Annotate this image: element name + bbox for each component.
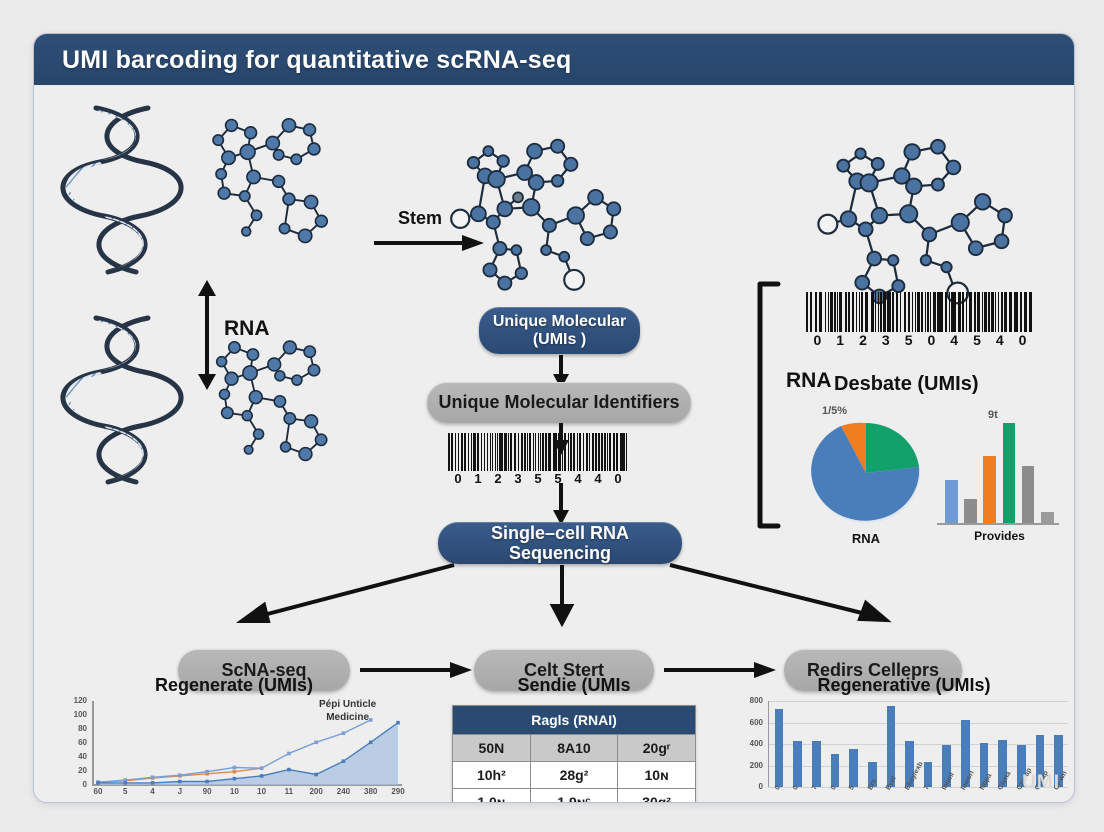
- minibar: [945, 480, 958, 523]
- minibar-label: Provides: [932, 529, 1067, 543]
- bar: [849, 749, 858, 787]
- sendie-table: Ragls (RNAI) 50N8A1020gʳ10h²28ɡ²10ɴ1 0ɴ1…: [452, 705, 696, 803]
- table-cell: 10ɴ: [618, 762, 696, 789]
- line-ytick: 40: [78, 752, 87, 761]
- table-row: 10h²28ɡ²10ɴ: [453, 762, 696, 789]
- pill-identifiers-label: Unique Molecular Identifiers: [438, 392, 679, 412]
- bar: [775, 709, 784, 787]
- minibar: [1022, 466, 1035, 523]
- minibar: [964, 499, 977, 523]
- molecule-network-left-top-icon: [202, 110, 342, 255]
- barcode-bars: [806, 292, 1034, 332]
- line-ytick: 0: [83, 780, 87, 789]
- line-chart-title: Regenerate (UMIs): [54, 675, 414, 696]
- table-cell: 8A10: [530, 735, 617, 762]
- arrow-barcode-to-scrnaseq-icon: [552, 483, 570, 525]
- sendie-table-block: Sendie (UMIs Ragls (RNAI) 50N8A1020gʳ10h…: [424, 675, 724, 803]
- table-title: Sendie (UMIs: [424, 675, 724, 696]
- right-pie-chart: 1/5% RNA: [796, 405, 936, 555]
- right-panel-title: Desbate (UMIs): [834, 373, 978, 396]
- line-ytick: 20: [78, 766, 87, 775]
- table-cell: 1 0ɴ: [453, 789, 531, 804]
- molecule-network-right-icon: [804, 133, 1034, 305]
- minibar: [1003, 423, 1016, 523]
- barcode-digits: 012355440: [448, 471, 628, 486]
- bar-ytick: 800: [750, 696, 763, 705]
- barcode-bars: [448, 433, 628, 471]
- fanout-arrows-icon: [184, 561, 944, 627]
- rna-vertical-label: RNA: [224, 317, 270, 341]
- table-row: 1 0ɴ1,9ɴᶜ30ɡ²: [453, 789, 696, 804]
- table-cell: 20gʳ: [618, 735, 696, 762]
- rna-bracket-label: RNA: [786, 369, 832, 393]
- table-cell: 1,9ɴᶜ: [530, 789, 617, 804]
- table-row: 50N8A1020gʳ: [453, 735, 696, 762]
- line-chart-yticks: 020406080100120: [54, 701, 90, 783]
- infographic-card: UMI barcoding for quantitative scRNA-seq: [33, 33, 1075, 803]
- bar-chart-yaxis: [768, 701, 769, 787]
- line-xtick: 5: [116, 787, 134, 796]
- regenerate-line-chart: Regenerate (UMIs) 020406080100120 6054J9…: [54, 675, 414, 803]
- barcode-center: 012355440: [448, 433, 628, 481]
- table-cell: 30ɡ²: [618, 789, 696, 804]
- bar: [812, 741, 821, 787]
- dna-helix-top-icon: [56, 100, 196, 285]
- bar-chart-yticks: 0200400600800: [734, 701, 766, 787]
- rna-double-arrow-icon: [194, 280, 220, 390]
- screenshot-canvas: UMI barcoding for quantitative scRNA-seq: [0, 0, 1104, 832]
- pie-svg: [806, 421, 926, 526]
- line-chart-xticks: 6054J90101011200240380290: [94, 787, 402, 803]
- card-header: UMI barcoding for quantitative scRNA-seq: [34, 34, 1074, 85]
- line-ytick: 60: [78, 738, 87, 747]
- pill-unique-molecular-identifiers[interactable]: Unique Molecular Identifiers: [427, 382, 691, 423]
- pill-single-cell-rna-sequencing[interactable]: Single–cell RNA Sequencing: [438, 522, 682, 564]
- line-xtick: 4: [144, 787, 162, 796]
- pill-scrnaseq-label: Single–cell RNA Sequencing: [438, 523, 682, 563]
- table-cell: 10h²: [453, 762, 531, 789]
- stem-arrow-label: Stem: [398, 208, 442, 229]
- watermark: UMI: [1022, 772, 1060, 794]
- bar-ytick: 400: [750, 739, 763, 748]
- bar: [831, 754, 840, 787]
- molecule-network-left-bottom-icon: [206, 330, 341, 475]
- line-xtick: 380: [362, 787, 380, 796]
- line-ytick: 100: [74, 710, 87, 719]
- line-xtick: 240: [334, 787, 352, 796]
- dna-helix-bottom-icon: [56, 310, 196, 495]
- line-xtick: 200: [307, 787, 325, 796]
- right-mini-bar-chart: 9t Provides: [932, 405, 1067, 555]
- bar-chart-title: Regenerative (UMIs): [734, 675, 1074, 696]
- molecule-network-center-icon: [442, 133, 632, 298]
- bar-xtick: 7.: [923, 783, 932, 791]
- bar-ytick: 200: [750, 761, 763, 770]
- line-ytick: 80: [78, 724, 87, 733]
- line-chart-annotation: Pépi Unticle Medicine: [319, 699, 376, 724]
- barcode-digits: 0123504540: [806, 332, 1034, 348]
- pie-label: RNA: [796, 531, 936, 546]
- line-xtick: 90: [198, 787, 216, 796]
- barcode-top: 0123504540: [806, 292, 1034, 340]
- minibar-axis: [937, 523, 1059, 525]
- page-title: UMI barcoding for quantitative scRNA-seq: [62, 46, 571, 75]
- bar: [793, 741, 802, 787]
- line-xtick: 290: [389, 787, 407, 796]
- table-cell: 50N: [453, 735, 531, 762]
- line-ytick: 120: [74, 696, 87, 705]
- table-header: Ragls (RNAI): [453, 706, 696, 735]
- line-xtick: J: [171, 787, 189, 796]
- minibar: [1041, 512, 1054, 523]
- card-body: RNA Stem: [34, 85, 1074, 802]
- rna-bracket-icon: [752, 280, 782, 530]
- pill-unique-molecular-label: Unique Molecular(UMIs ): [493, 313, 626, 349]
- bar-ytick: 0: [759, 782, 763, 791]
- minibar-annotation: 9t: [988, 409, 998, 421]
- pill-unique-molecular[interactable]: Unique Molecular(UMIs ): [479, 307, 640, 354]
- line-xtick: 10: [225, 787, 243, 796]
- bar-ytick: 600: [750, 718, 763, 727]
- line-xtick: 11: [280, 787, 298, 796]
- line-xtick: 60: [89, 787, 107, 796]
- line-xtick: 10: [253, 787, 271, 796]
- minibar: [983, 456, 996, 523]
- pie-annotation: 1/5%: [822, 405, 847, 417]
- minibar-bars: [942, 423, 1057, 523]
- table-cell: 28ɡ²: [530, 762, 617, 789]
